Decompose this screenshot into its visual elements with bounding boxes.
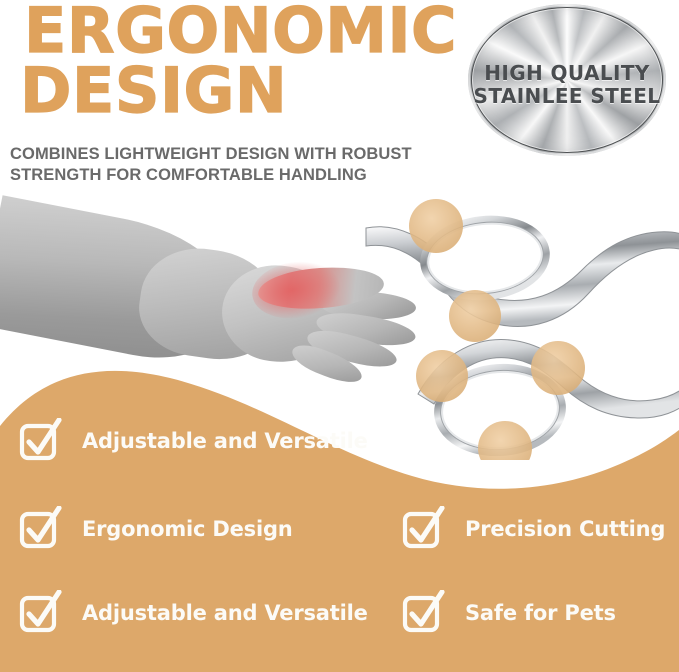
feature-item[interactable]: Ergonomic Design [18, 506, 293, 552]
feature-item[interactable]: Precision Cutting [401, 506, 665, 552]
feature-checklist: Adjustable and Versatile Ergonomic Desig… [0, 0, 679, 672]
product-infographic: Ergonomic Design Combines lightweight de… [0, 0, 679, 672]
checkbox-check-icon [401, 506, 447, 552]
checkbox-check-icon [18, 590, 64, 636]
feature-item[interactable]: Adjustable and Versatile [18, 590, 368, 636]
feature-label: Safe for Pets [465, 601, 616, 625]
checkbox-check-icon [18, 418, 64, 464]
feature-label: Adjustable and Versatile [82, 429, 368, 453]
checkbox-check-icon [401, 590, 447, 636]
feature-label: Ergonomic Design [82, 517, 293, 541]
feature-label: Precision Cutting [465, 517, 665, 541]
feature-label: Adjustable and Versatile [82, 601, 368, 625]
feature-item[interactable]: Adjustable and Versatile [18, 418, 368, 464]
feature-item[interactable]: Safe for Pets [401, 590, 616, 636]
checkbox-check-icon [18, 506, 64, 552]
